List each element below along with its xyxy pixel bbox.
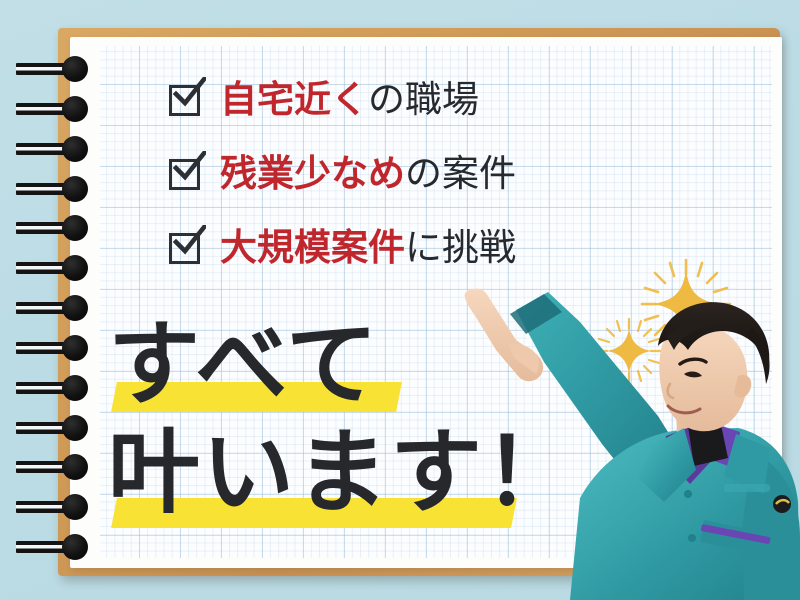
checklist-item-rest: の案件 bbox=[405, 152, 516, 195]
checklist-item-highlight: 大規模案件 bbox=[220, 226, 405, 269]
checklist-item-highlight: 残業少なめ bbox=[220, 152, 405, 195]
headline-line-1: すべて bbox=[108, 318, 568, 426]
checkmark-icon bbox=[172, 225, 206, 259]
checklist-item[interactable]: 自宅近くの職場 bbox=[166, 62, 686, 136]
checklist-item-text: 自宅近くの職場 bbox=[220, 81, 479, 118]
checked-checkbox-icon[interactable] bbox=[166, 228, 204, 266]
checklist-item-text: 残業少なめの案件 bbox=[220, 155, 516, 192]
checklist-item-text: 大規模案件に挑戦 bbox=[220, 229, 516, 266]
checked-checkbox-icon[interactable] bbox=[166, 80, 204, 118]
checkmark-icon bbox=[172, 151, 206, 185]
checked-checkbox-icon[interactable] bbox=[166, 154, 204, 192]
checkmark-icon bbox=[172, 77, 206, 111]
headline-line-2: 叶います！ bbox=[108, 426, 568, 534]
headline: すべて 叶います！ bbox=[108, 318, 568, 534]
checklist-item[interactable]: 残業少なめの案件 bbox=[166, 136, 686, 210]
checklist-item-rest: に挑戦 bbox=[405, 226, 516, 269]
checklist-item-rest: の職場 bbox=[368, 78, 479, 121]
checklist-item-highlight: 自宅近く bbox=[220, 78, 368, 121]
headline-text-2: 叶います！ bbox=[108, 426, 578, 520]
checklist: 自宅近くの職場 残業少なめの案件 bbox=[166, 62, 686, 284]
banner-stage: 自宅近くの職場 残業少なめの案件 bbox=[0, 0, 800, 600]
checklist-item[interactable]: 大規模案件に挑戦 bbox=[166, 210, 686, 284]
headline-text-1: すべて bbox=[108, 318, 380, 412]
